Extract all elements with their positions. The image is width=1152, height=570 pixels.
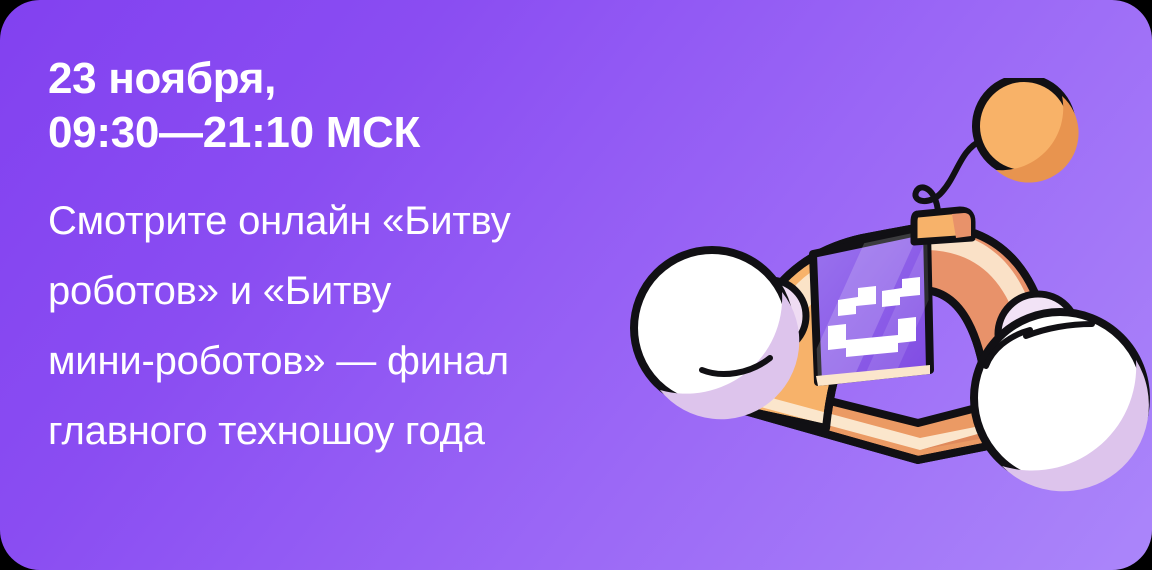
- event-datetime-headline: 23 ноября, 09:30—21:10 МСК: [48, 52, 648, 160]
- antenna-ball: [976, 78, 1079, 183]
- event-description-text: Смотрите онлайн «Битву роботов» и «Битву…: [48, 186, 648, 466]
- antenna-base: [914, 210, 972, 242]
- promo-banner: 23 ноября, 09:30—21:10 МСК Смотрите онла…: [0, 0, 1152, 570]
- robot-illustration: [630, 78, 1152, 502]
- antenna-wire: [915, 140, 982, 212]
- banner-text-block: 23 ноября, 09:30—21:10 МСК Смотрите онла…: [48, 52, 648, 466]
- right-hand: [974, 294, 1149, 491]
